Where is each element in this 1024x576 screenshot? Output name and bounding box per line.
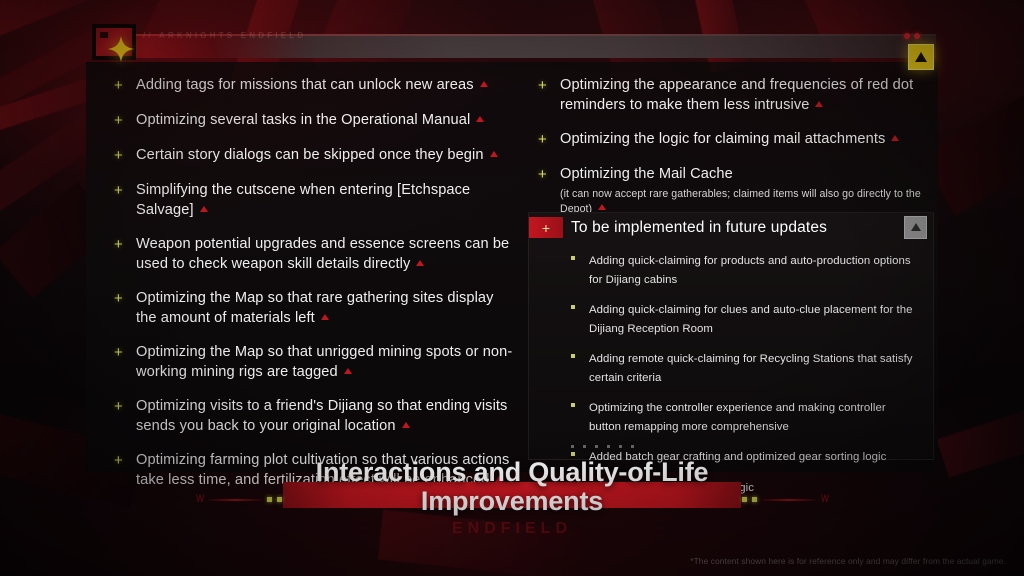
future-updates-panel: + To be implemented in future updates Ad… (528, 212, 934, 460)
bullet-icon (571, 452, 575, 456)
list-item[interactable]: + Optimizing several tasks in the Operat… (104, 111, 514, 131)
list-item[interactable]: + Simplifying the cutscene when entering… (104, 181, 514, 220)
header-status-dots (904, 33, 920, 39)
triangle-marker-icon (598, 204, 606, 210)
status-dot (914, 33, 920, 39)
pagination-dot[interactable] (631, 445, 634, 448)
plus-icon: + (114, 289, 123, 308)
list-item-text: Optimizing the appearance and frequencie… (560, 76, 938, 115)
triangle-marker-icon (402, 422, 410, 428)
triangle-marker-icon (815, 101, 823, 107)
triangle-up-icon (910, 219, 922, 237)
list-item-text: Optimizing visits to a friend's Dijiang … (136, 397, 514, 436)
pagination-dot[interactable] (619, 445, 622, 448)
list-item-text: Optimizing the Map so that unrigged mini… (136, 343, 514, 382)
plus-icon: + (114, 76, 123, 95)
pagination-dot[interactable] (595, 445, 598, 448)
list-item-text: Weapon potential upgrades and essence sc… (136, 235, 514, 274)
list-item[interactable]: + Optimizing the appearance and frequenc… (528, 76, 938, 115)
bullet-icon (571, 354, 575, 358)
list-item-text: Optimizing several tasks in the Operatio… (136, 111, 484, 131)
status-dot (904, 33, 910, 39)
pagination-dot[interactable] (607, 445, 610, 448)
banner-title-line2: Improvements (0, 487, 1024, 516)
bottom-banner: \/\/ \/\/ Interactions and Quality-of-Li… (0, 458, 1024, 528)
future-updates-header: + To be implemented in future updates (529, 213, 933, 243)
triangle-marker-icon (490, 151, 498, 157)
list-item-text: Adding quick-claiming for clues and auto… (589, 304, 913, 335)
list-item-text: Adding remote quick-claiming for Recycli… (589, 353, 913, 384)
logo-notch (100, 32, 108, 38)
plus-icon: + (538, 130, 547, 149)
scroll-up-button[interactable] (904, 216, 927, 239)
slide-root: // ARKNIGHTS ENDFIELD + Adding tags for … (0, 0, 1024, 576)
list-item[interactable]: + Certain story dialogs can be skipped o… (104, 146, 514, 166)
four-point-star-icon (108, 36, 134, 62)
pagination-dots[interactable] (571, 445, 634, 448)
plus-icon: + (538, 76, 547, 95)
list-item-text: Optimizing the Mail Cache(it can now acc… (560, 165, 938, 217)
list-item[interactable]: + Optimizing the Map so that unrigged mi… (104, 343, 514, 382)
triangle-marker-icon (476, 116, 484, 122)
plus-chip-icon: + (529, 217, 563, 238)
plus-icon: + (114, 181, 123, 200)
plus-icon: + (114, 146, 123, 165)
bullet-icon (571, 256, 575, 260)
triangle-marker-icon (344, 368, 352, 374)
list-item-text: Adding tags for missions that can unlock… (136, 76, 488, 96)
banner-title: Interactions and Quality-of-Life Improve… (0, 458, 1024, 516)
list-item[interactable]: Adding remote quick-claiming for Recycli… (569, 349, 919, 386)
list-item-text: Simplifying the cutscene when entering [… (136, 181, 514, 220)
list-item[interactable]: Optimizing the controller experience and… (569, 398, 919, 435)
plus-icon: + (114, 343, 123, 362)
future-updates-title: To be implemented in future updates (571, 219, 827, 237)
triangle-up-icon (914, 51, 928, 63)
list-item-text: Optimizing the Map so that rare gatherin… (136, 289, 514, 328)
list-item[interactable]: Adding quick-claiming for clues and auto… (569, 300, 919, 337)
bullet-icon (571, 403, 575, 407)
plus-icon: + (538, 165, 547, 184)
left-column: + Adding tags for missions that can unlo… (104, 76, 514, 505)
triangle-marker-icon (321, 314, 329, 320)
list-item-text: Certain story dialogs can be skipped onc… (136, 146, 498, 166)
bullet-icon (571, 305, 575, 309)
list-item[interactable]: + Adding tags for missions that can unlo… (104, 76, 514, 96)
pagination-dot[interactable] (583, 445, 586, 448)
list-item-text: Optimizing the controller experience and… (589, 402, 886, 433)
collapse-button[interactable] (908, 44, 934, 70)
triangle-marker-icon (200, 206, 208, 212)
triangle-marker-icon (480, 81, 488, 87)
list-item-text: Adding quick-claiming for products and a… (589, 255, 911, 286)
banner-ghost-text: ENDFIELD (0, 520, 1024, 538)
list-item[interactable]: + Optimizing the logic for claiming mail… (528, 130, 938, 150)
list-item[interactable]: + Weapon potential upgrades and essence … (104, 235, 514, 274)
banner-title-line1: Interactions and Quality-of-Life (0, 458, 1024, 487)
list-item[interactable]: + Optimizing visits to a friend's Dijian… (104, 397, 514, 436)
plus-icon: + (114, 235, 123, 254)
list-item[interactable]: Adding quick-claiming for products and a… (569, 251, 919, 288)
disclaimer-text: *The content shown here is for reference… (690, 556, 1006, 566)
header-watermark: // ARKNIGHTS ENDFIELD (143, 31, 306, 40)
plus-icon: + (114, 397, 123, 416)
pagination-dot[interactable] (571, 445, 574, 448)
triangle-marker-icon (891, 135, 899, 141)
plus-icon: + (114, 111, 123, 130)
list-item[interactable]: + Optimizing the Map so that rare gather… (104, 289, 514, 328)
list-item-text: Optimizing the logic for claiming mail a… (560, 130, 899, 150)
right-column: + Optimizing the appearance and frequenc… (528, 76, 938, 232)
triangle-marker-icon (416, 260, 424, 266)
list-item[interactable]: + Optimizing the Mail Cache(it can now a… (528, 165, 938, 217)
